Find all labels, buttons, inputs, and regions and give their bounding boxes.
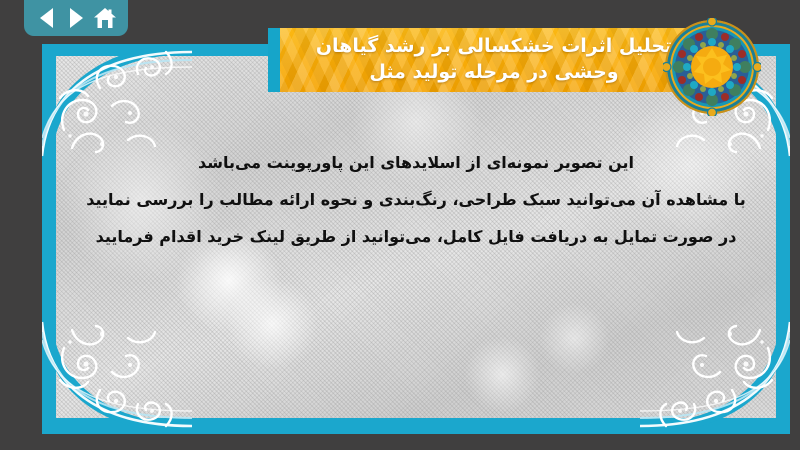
triangle-right-icon xyxy=(66,7,86,29)
body-line-1: این تصویر نمونه‌ای از اسلایدهای این پاور… xyxy=(72,144,760,181)
mandala-medallion-icon xyxy=(663,18,761,116)
navigation-panel xyxy=(24,0,128,36)
title-line-1: تحلیل اثرات خشکسالی بر رشد گیاهان xyxy=(316,34,672,60)
home-button[interactable] xyxy=(92,5,118,31)
next-slide-button[interactable] xyxy=(63,5,89,31)
slide-title-banner: تحلیل اثرات خشکسالی بر رشد گیاهان وحشی د… xyxy=(268,28,708,92)
title-line-2: وحشی در مرحله تولید مثل xyxy=(316,60,672,86)
slide-body: این تصویر نمونه‌ای از اسلایدهای این پاور… xyxy=(72,144,760,255)
slide-viewer: این تصویر نمونه‌ای از اسلایدهای این پاور… xyxy=(0,0,800,450)
body-line-2: با مشاهده آن می‌توانید سبک طراحی، رنگ‌بن… xyxy=(72,181,760,218)
body-line-3: در صورت تمایل به دریافت فایل کامل، می‌تو… xyxy=(72,218,760,255)
triangle-left-icon xyxy=(37,7,57,29)
home-icon xyxy=(93,7,117,29)
previous-slide-button[interactable] xyxy=(34,5,60,31)
page-title: تحلیل اثرات خشکسالی بر رشد گیاهان وحشی د… xyxy=(302,34,686,85)
